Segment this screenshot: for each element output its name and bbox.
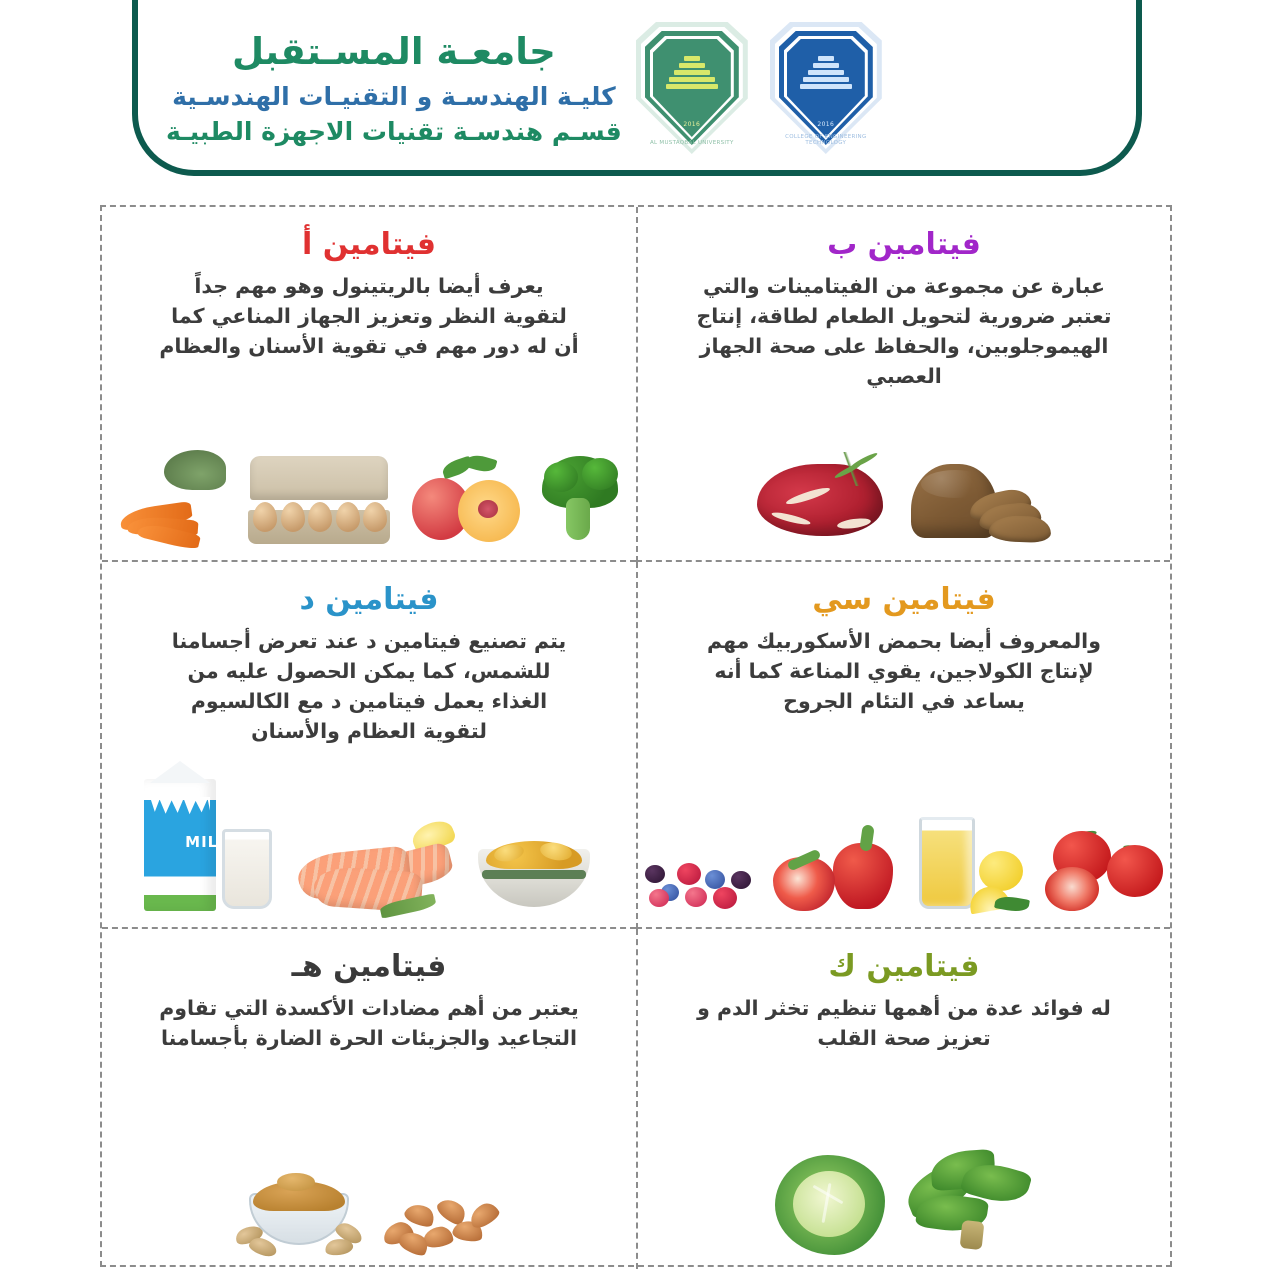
card-vitamin-b: فيتامين ب عبارة عن مجموعة من الفيتامينات… <box>636 207 1170 562</box>
berries-icon <box>643 833 755 913</box>
card-food-images: MILK <box>128 771 610 919</box>
card-title: فيتامين ك <box>828 949 979 984</box>
milk-carton-icon: MILK <box>144 771 272 913</box>
card-food-images <box>664 1147 1144 1261</box>
red-pepper-icon <box>771 817 895 913</box>
card-description: يعرف أيضا بالريتينول وهو مهم جداً لتقوية… <box>159 272 579 362</box>
salmon-icon <box>288 817 458 913</box>
university-logo-icon: 2016 AL MUSTAQBAL UNIVERSITY <box>636 22 748 154</box>
juice-glass-icon <box>911 813 1029 913</box>
card-description: يتم تصنيع فيتامين د عند تعرض أجسامنا للش… <box>159 627 579 747</box>
card-title: فيتامين سي <box>812 582 996 617</box>
carrots-icon <box>116 450 228 546</box>
card-vitamin-c: فيتامين سي والمعروف أيضا بحمض الأسكوربيك… <box>636 562 1170 929</box>
card-description: عبارة عن مجموعة من الفيتامينات والتي تعت… <box>694 272 1114 392</box>
header-text-block: جامعـة المسـتقبل كليـة الهندسـة و التقني… <box>138 28 636 148</box>
card-title: فيتامين هـ <box>292 949 447 984</box>
logo-group: 2016 AL MUSTAQBAL UNIVERSITY 2016 COLLEG… <box>636 22 892 154</box>
university-title: جامعـة المسـتقبل <box>166 28 622 75</box>
poster-header: جامعـة المسـتقبل كليـة الهندسـة و التقني… <box>132 0 1142 176</box>
card-title: فيتامين د <box>299 582 438 617</box>
card-food-images <box>664 813 1144 919</box>
card-vitamin-a: فيتامين أ يعرف أيضا بالريتينول وهو مهم ج… <box>102 207 636 562</box>
card-vitamin-d: فيتامين د يتم تصنيع فيتامين د عند تعرض أ… <box>102 562 636 929</box>
card-food-images <box>128 1159 610 1261</box>
cabbage-icon <box>775 1155 885 1255</box>
card-food-images <box>128 450 610 552</box>
card-title: فيتامين ب <box>827 227 981 262</box>
college-title: كليـة الهندسـة و التقنيـات الهندسـية <box>166 81 622 113</box>
card-description: والمعروف أيضا بحمض الأسكوربيك مهم لإنتاج… <box>694 627 1114 717</box>
college-logo-year: 2016 <box>770 121 882 128</box>
department-title: قسـم هندسـة تقنيات الاجهزة الطبيـة <box>166 116 622 148</box>
tomatoes-icon <box>1045 817 1165 913</box>
egg-carton-icon <box>244 454 394 546</box>
card-title: فيتامين أ <box>302 227 436 262</box>
spinach-icon <box>901 1147 1033 1255</box>
almonds-icon <box>379 1171 503 1255</box>
college-logo-icon: 2016 COLLEGE OF ENGINEERING TECHNOLOGY <box>770 22 882 154</box>
university-logo-year: 2016 <box>636 121 748 128</box>
bread-icon <box>907 450 1057 546</box>
cereal-bowl-icon <box>474 821 594 913</box>
vitamin-grid: فيتامين ب عبارة عن مجموعة من الفيتامينات… <box>100 205 1172 1267</box>
peach-icon <box>410 454 522 546</box>
card-description: يعتبر من أهم مضادات الأكسدة التي تقاوم ا… <box>159 994 579 1054</box>
red-meat-icon <box>751 450 891 546</box>
broccoli-icon <box>538 450 622 546</box>
university-logo-label: AL MUSTAQBAL UNIVERSITY <box>636 140 748 146</box>
card-description: له فوائد عدة من أهمها تنظيم تخثر الدم و … <box>694 994 1114 1054</box>
college-logo-label: COLLEGE OF ENGINEERING TECHNOLOGY <box>770 134 882 146</box>
card-food-images <box>664 450 1144 552</box>
card-vitamin-e: فيتامين هـ يعتبر من أهم مضادات الأكسدة ا… <box>102 929 636 1269</box>
card-vitamin-k: فيتامين ك له فوائد عدة من أهمها تنظيم تخ… <box>636 929 1170 1269</box>
peanut-butter-icon <box>235 1159 363 1255</box>
